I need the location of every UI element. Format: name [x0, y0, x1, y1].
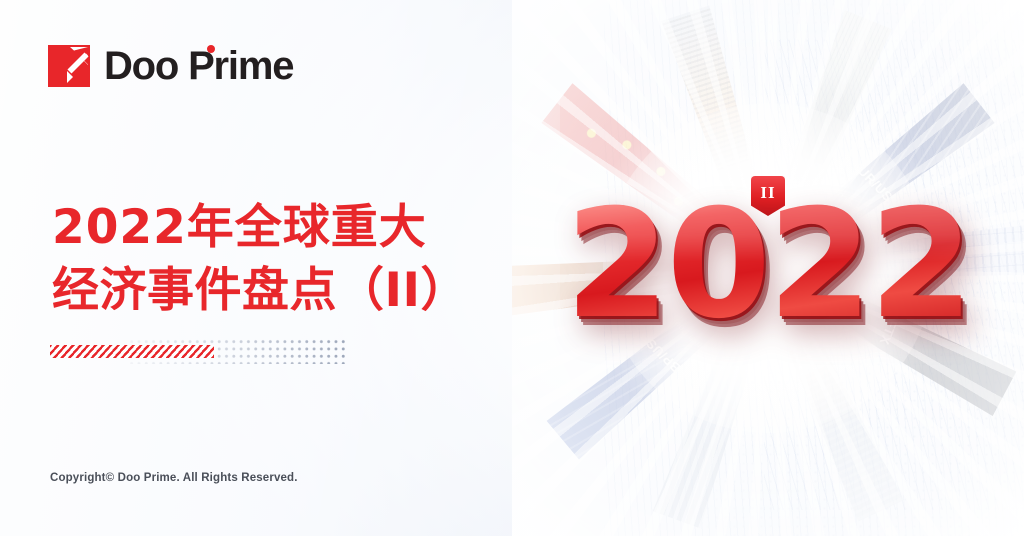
doo-prime-logo-mark-icon [48, 45, 90, 87]
collage-wedge-host: EUR/USDEuro vs DollarFTXGBP/USDBritish P… [512, 8, 1024, 528]
hero-collage: EUR/USDEuro vs DollarFTXGBP/USDBritish P… [512, 0, 1024, 536]
banner-canvas: EUR/USDEuro vs DollarFTXGBP/USDBritish P… [0, 0, 1024, 536]
title-underline-decoration [50, 338, 370, 366]
left-content-panel: Doo Prime 2022年全球重大 经济事件盘点（II） Copyright… [0, 0, 540, 536]
copyright-text: Copyright© Doo Prime. All Rights Reserve… [50, 472, 298, 484]
brand-wordmark: Doo Prime [104, 46, 293, 86]
edition-badge-label: II [760, 184, 775, 201]
page-title: 2022年全球重大 经济事件盘点（II） [52, 197, 468, 323]
page-title-line-1: 2022年全球重大 [52, 197, 468, 260]
page-title-line-2: 经济事件盘点（II） [52, 260, 468, 323]
red-diagonal-stripe-icon [50, 345, 214, 358]
brand-accent-dot-icon [207, 45, 215, 53]
brand-logo[interactable]: Doo Prime [48, 45, 293, 87]
